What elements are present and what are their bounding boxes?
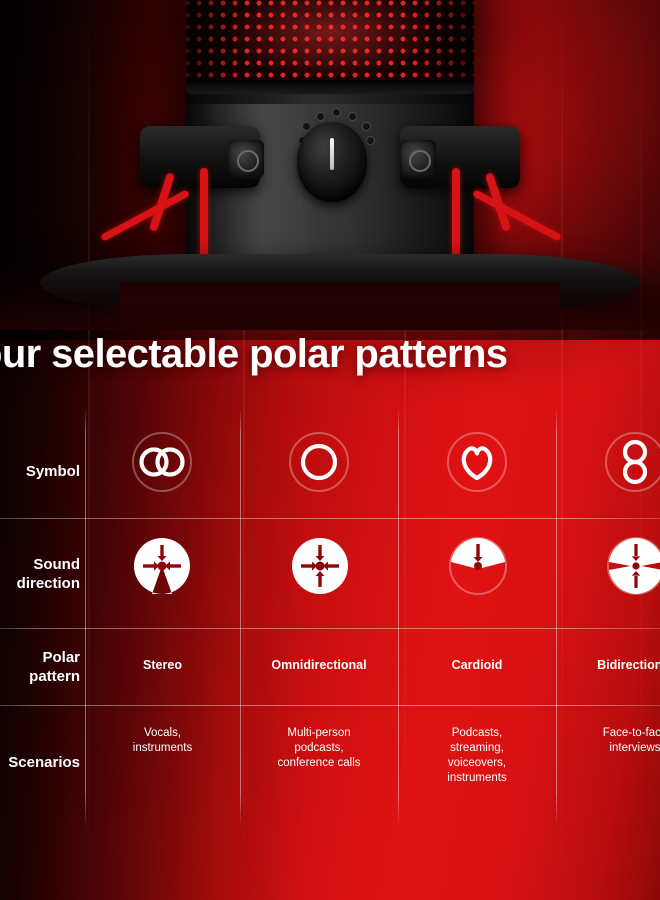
cardioid-direction-icon — [448, 536, 508, 596]
shock-mount-screw-left — [228, 140, 264, 178]
photo-bottom-fade — [0, 260, 660, 330]
cardioid-heart-icon — [445, 430, 509, 494]
table-row-divider-2 — [0, 628, 660, 629]
omnidirectional-direction-icon — [290, 536, 350, 596]
table-column-divider-1 — [85, 408, 86, 826]
figure-eight-icon — [603, 430, 660, 494]
row-label-sound-direction: Sound direction — [0, 555, 80, 593]
polar-pattern-comparison-table: Symbol Sound direction Polar pattern Sce… — [0, 408, 660, 826]
shock-mount-band-left-outer — [100, 189, 190, 241]
microphone-knob-indicator — [330, 138, 334, 170]
page-title: our selectable polar patterns — [0, 332, 660, 377]
cell-pattern-bidirectional: Bidirectional — [556, 658, 660, 673]
row-label-symbol: Symbol — [0, 462, 80, 481]
row-label-polar-pattern: Polar pattern — [0, 648, 80, 686]
product-infographic-page: our selectable polar patterns Symbol Sou… — [0, 0, 660, 900]
cell-scenarios-stereo: Vocals, instruments — [85, 726, 240, 756]
single-circle-icon — [287, 430, 351, 494]
table-row-divider-3 — [0, 705, 660, 706]
cell-pattern-omnidirectional: Omnidirectional — [240, 658, 398, 673]
shock-mount-band-right-inner — [452, 168, 460, 260]
bidirectional-direction-icon — [606, 536, 660, 596]
shock-mount-band-right-outer — [472, 189, 562, 241]
cell-scenarios-bidirectional: Face-to-face interviews — [556, 726, 660, 756]
microphone-product-photo — [0, 0, 660, 330]
microphone-grille — [186, 0, 474, 85]
two-overlapping-circles-icon — [130, 430, 194, 494]
cell-scenarios-cardioid: Podcasts, streaming, voiceovers, instrum… — [398, 726, 556, 786]
shock-mount-screw-right — [400, 140, 436, 178]
cell-pattern-cardioid: Cardioid — [398, 658, 556, 673]
cell-pattern-stereo: Stereo — [85, 658, 240, 673]
cell-scenarios-omnidirectional: Multi-person podcasts, conference calls — [240, 726, 398, 771]
table-row-divider-1 — [0, 518, 660, 519]
shock-mount-band-left-inner — [200, 168, 208, 260]
stereo-direction-icon — [132, 536, 192, 596]
table-column-divider-4 — [556, 408, 557, 826]
microphone-grille-edge — [186, 80, 474, 94]
row-label-scenarios: Scenarios — [0, 753, 80, 772]
